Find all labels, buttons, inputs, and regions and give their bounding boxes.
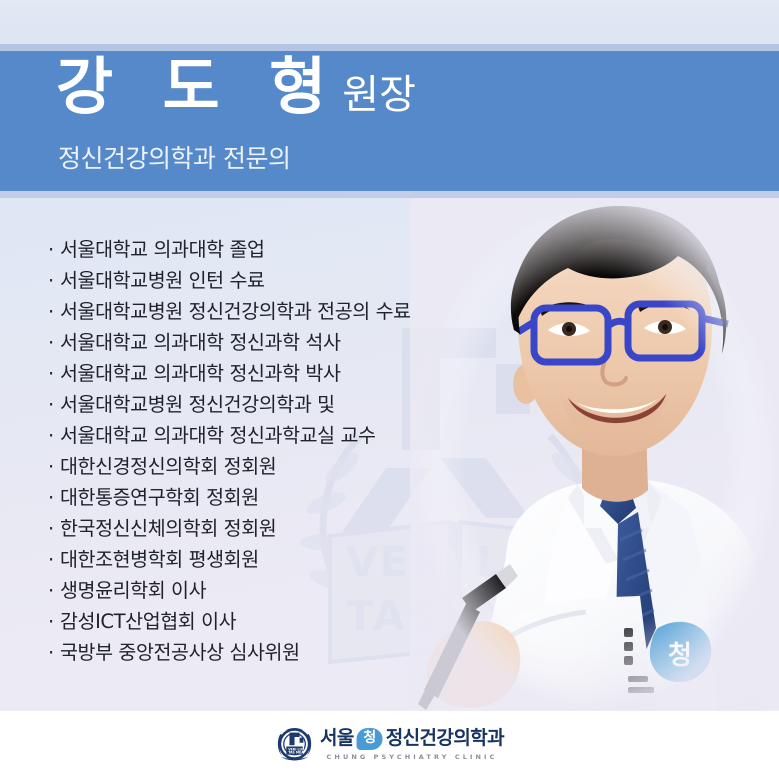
doctor-title: 원장 [342, 75, 416, 115]
credential-item: ·서울대학교 의과대학 정신과학 석사 [48, 327, 468, 358]
watermark-motto-lux: LUX [476, 538, 572, 586]
credential-item: ·서울대학교병원 정신건강의학과 전공의 수료 [48, 296, 468, 327]
bullet-icon: · [48, 606, 60, 637]
bullet-icon: · [48, 482, 60, 513]
credential-item: ·서울대학교 의과대학 정신과학 박사 [48, 358, 468, 389]
credential-item: ·서울대학교병원 인턴 수료 [48, 265, 468, 296]
bullet-icon: · [48, 265, 60, 296]
bullet-icon: · [48, 358, 60, 389]
top-rule-divider [0, 44, 779, 51]
clinic-logo-text: 서울 청 정신건강의학과 CHUNG PSYCHIATRY CLINIC [320, 728, 504, 761]
bullet-icon: · [48, 420, 60, 451]
credential-text: 서울대학교병원 정신건강의학과 전공의 수료 [60, 296, 411, 327]
credential-text: 감성ICT산업협회 이사 [60, 606, 236, 637]
header-inner: 강 도 형 원장 정신건강의학과 전문의 [56, 51, 779, 191]
watermark-motto-mea: MEA [476, 592, 583, 640]
credential-text: 서울대학교 의과대학 졸업 [60, 234, 265, 265]
credential-text: 대한조현병학회 평생회원 [60, 544, 259, 575]
credential-text: 생명윤리학회 이사 [60, 575, 206, 606]
bullet-icon: · [48, 327, 60, 358]
bullet-icon: · [48, 451, 60, 482]
header-band: 강 도 형 원장 정신건강의학과 전문의 [0, 51, 779, 191]
bullet-icon: · [48, 234, 60, 265]
credential-item: ·감성ICT산업협회 이사 [48, 606, 468, 637]
credential-item: ·국방부 중앙전공사상 심사위원 [48, 637, 468, 668]
neck [582, 426, 648, 502]
credential-text: 서울대학교 의과대학 정신과학교실 교수 [60, 420, 376, 451]
bullet-icon: · [48, 575, 60, 606]
logo-seoul-text: 서울 [320, 729, 354, 749]
coat-badge-label: 청 [668, 641, 692, 671]
bullet-icon: · [48, 389, 60, 420]
logo-chung-badge: 청 [357, 728, 383, 750]
svg-text:TAS MEA: TAS MEA [288, 751, 304, 755]
glasses-icon [518, 304, 728, 362]
coat-badge: 청 [624, 622, 711, 693]
clinic-logo[interactable]: VERI LUX TAS MEA 서울 청 정신건강의학과 CHUNG PSYC… [275, 725, 504, 763]
credential-item: ·서울대학교 의과대학 정신과학교실 교수 [48, 420, 468, 451]
credential-item: ·대한조현병학회 평생회원 [48, 544, 468, 575]
header-bottom-divider [0, 191, 779, 198]
clinic-logo-korean: 서울 청 정신건강의학과 [320, 728, 504, 750]
credential-text: 한국정신신체의학회 정회원 [60, 513, 276, 544]
nose [602, 350, 626, 385]
top-strip [0, 0, 779, 44]
credential-item: ·한국정신신체의학회 정회원 [48, 513, 468, 544]
credential-text: 대한통증연구학회 정회원 [60, 482, 259, 513]
credential-item: ·대한통증연구학회 정회원 [48, 482, 468, 513]
credential-text: 서울대학교병원 정신건강의학과 및 [60, 389, 335, 420]
logo-department-text: 정신건강의학과 [386, 729, 504, 749]
hair [511, 206, 727, 354]
credential-text: 서울대학교병원 인턴 수료 [60, 265, 265, 296]
bullet-icon: · [48, 637, 60, 668]
credential-text: 대한신경정신의학회 정회원 [60, 451, 276, 482]
credential-item: ·대한신경정신의학회 정회원 [48, 451, 468, 482]
bullet-icon: · [48, 544, 60, 575]
credential-item: ·서울대학교 의과대학 졸업 [48, 234, 468, 265]
credential-text: 서울대학교 의과대학 정신과학 박사 [60, 358, 341, 389]
bullet-icon: · [48, 296, 60, 327]
doctor-name-row: 강 도 형 원장 [56, 56, 416, 118]
credential-item: ·서울대학교병원 정신건강의학과 및 [48, 389, 468, 420]
credential-item: ·생명윤리학회 이사 [48, 575, 468, 606]
footer: VERI LUX TAS MEA 서울 청 정신건강의학과 CHUNG PSYC… [0, 711, 779, 780]
doctor-name: 강 도 형 [56, 56, 340, 118]
bullet-icon: · [48, 513, 60, 544]
necktie [600, 484, 656, 668]
credential-text: 서울대학교 의과대학 정신과학 석사 [60, 327, 341, 358]
ear [513, 364, 539, 404]
face [518, 216, 712, 456]
credential-text: 국방부 중앙전공사상 심사위원 [60, 637, 300, 668]
eyes [548, 320, 686, 336]
shirt-collar [584, 474, 652, 528]
body-area: VERI LUX TAS MEA ·서울대학교 의과대학 졸업 ·서울대학교병원… [0, 198, 779, 711]
credentials-list: ·서울대학교 의과대학 졸업 ·서울대학교병원 인턴 수료 ·서울대학교병원 정… [48, 234, 468, 668]
eyebrows [540, 301, 690, 316]
doctor-specialty: 정신건강의학과 전문의 [58, 139, 290, 175]
doctor-coat [470, 480, 762, 711]
mouth [568, 394, 666, 423]
doctor-profile-card: 강 도 형 원장 정신건강의학과 전문의 [0, 0, 779, 780]
clinic-logo-english: CHUNG PSYCHIATRY CLINIC [320, 753, 504, 761]
snu-emblem-icon: VERI LUX TAS MEA [275, 725, 313, 763]
